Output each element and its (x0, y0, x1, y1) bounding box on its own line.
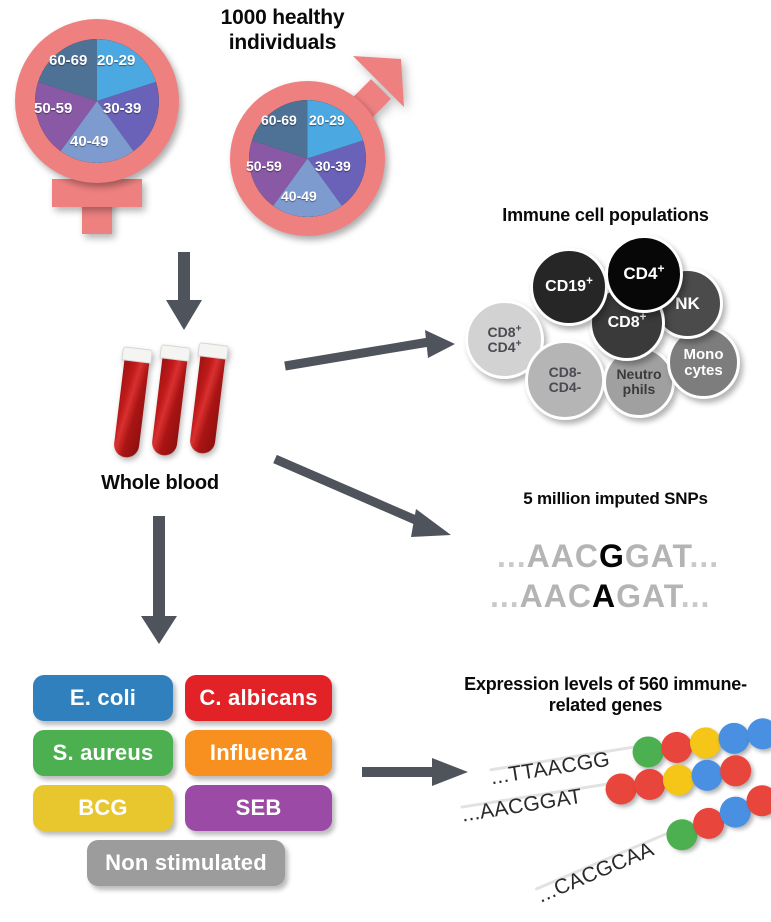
male-pie-label-60-69: 60-69 (261, 112, 297, 128)
male-pie-label-50-59: 50-59 (246, 158, 282, 174)
cohort-to-blood-arrow (160, 252, 212, 334)
snp-suffix: ... (681, 578, 711, 614)
female-pie-label-40-49: 40-49 (70, 133, 108, 150)
blood-to-snp-arrow (275, 455, 465, 545)
stimulus-e-coli[interactable]: E. coli (33, 675, 173, 721)
blood-tube-body (188, 354, 225, 454)
expression-bead (716, 721, 751, 756)
stimulus-influenza[interactable]: Influenza (185, 730, 332, 776)
immune-cell-label: NK (675, 295, 700, 313)
expression-bead (661, 762, 696, 797)
expression-bead (659, 730, 694, 765)
expression-bead (718, 753, 753, 788)
female-pie-label-30-39: 30-39 (103, 100, 141, 117)
snp-left-flank: AAC (527, 538, 599, 574)
strand-sequence: ...CACGCAA (534, 838, 658, 909)
stimulus-label: E. coli (70, 685, 136, 711)
stimuli-to-expression-arrow (362, 756, 472, 790)
snp-variant-allele: G (599, 538, 625, 574)
immune-populations-title: Immune cell populations (440, 205, 771, 226)
blood-tube-body (112, 358, 149, 458)
immune-cell-cd4pos: CD4+ (605, 235, 683, 313)
blood-tube-body (150, 356, 187, 456)
snp-title: 5 million imputed SNPs (460, 489, 771, 509)
female-venus-symbol: 20-29 30-39 40-49 50-59 60-69 (8, 14, 193, 229)
snp-variant-allele: A (592, 578, 616, 614)
expression-title: Expression levels of 560 immune-related … (440, 674, 771, 716)
stimulus-label: BCG (78, 795, 128, 821)
blood-to-stimuli-arrow (138, 516, 188, 646)
blood-to-immune-arrow (285, 330, 460, 380)
whole-blood-tubes (105, 340, 265, 470)
blood-tube (185, 342, 228, 457)
snp-suffix: ... (690, 538, 720, 574)
immune-cell-label: CD8+CD4+ (488, 325, 522, 354)
whole-blood-label: Whole blood (70, 472, 250, 496)
male-mars-symbol: 20-29 30-39 40-49 50-59 60-69 (205, 45, 420, 240)
immune-cell-label: Neutrophils (616, 367, 661, 396)
expression-bead (632, 767, 667, 802)
stimulus-label: Influenza (210, 740, 307, 766)
stimulus-seb[interactable]: SEB (185, 785, 332, 831)
stimulus-bcg[interactable]: BCG (33, 785, 173, 831)
snp-prefix: ... (490, 578, 520, 614)
expression-bead (688, 725, 723, 760)
blood-tube (147, 344, 190, 459)
female-pie-label-20-29: 20-29 (97, 52, 135, 69)
expression-bead (630, 734, 665, 769)
immune-cell-cd19pos: CD19+ (530, 248, 608, 326)
stimulus-label: Non stimulated (105, 850, 267, 876)
blood-tube (109, 346, 152, 461)
immune-cell-cd8neg-cd4neg: CD8-CD4- (525, 340, 605, 420)
immune-cell-label: Monocytes (684, 347, 724, 378)
male-pie-label-20-29: 20-29 (309, 112, 345, 128)
expression-bead (745, 716, 771, 751)
figure-canvas: 1000 healthy individuals 20-29 30-39 40-… (0, 0, 771, 922)
immune-cell-label: CD8-CD4- (549, 365, 582, 394)
stimulus-label: C. albicans (199, 685, 317, 711)
expression-bead (603, 771, 638, 806)
stimulus-label: SEB (236, 795, 282, 821)
stimulus-c-albicans[interactable]: C. albicans (185, 675, 332, 721)
female-pie-label-60-69: 60-69 (49, 52, 87, 69)
female-pie-label-50-59: 50-59 (34, 100, 72, 117)
snp-right-flank: GAT (616, 578, 681, 614)
snp-sequence-row-2: ...AACAGAT... (490, 578, 710, 615)
expression-bead (689, 758, 724, 793)
stimulus-label: S. aureus (53, 740, 154, 766)
immune-cell-label: CD19+ (545, 279, 593, 296)
snp-prefix: ... (497, 538, 527, 574)
immune-cell-label: CD8+ (608, 315, 647, 332)
strand-sequence: ...AACGGAT (460, 785, 584, 828)
immune-cell-label: CD4+ (623, 265, 664, 283)
snp-sequence-row-1: ...AACGGAT... (497, 538, 719, 575)
stimulus-s-aureus[interactable]: S. aureus (33, 730, 173, 776)
male-pie-label-30-39: 30-39 (315, 158, 351, 174)
snp-right-flank: GAT (625, 538, 690, 574)
venus-stem-cross (52, 179, 142, 207)
snp-left-flank: AAC (520, 578, 592, 614)
stimulus-non-stimulated[interactable]: Non stimulated (87, 840, 285, 886)
immune-cell-cluster: CD8+CD4+ CD8-CD4- Neutrophils Monocytes … (462, 240, 762, 420)
male-pie-label-40-49: 40-49 (281, 188, 317, 204)
